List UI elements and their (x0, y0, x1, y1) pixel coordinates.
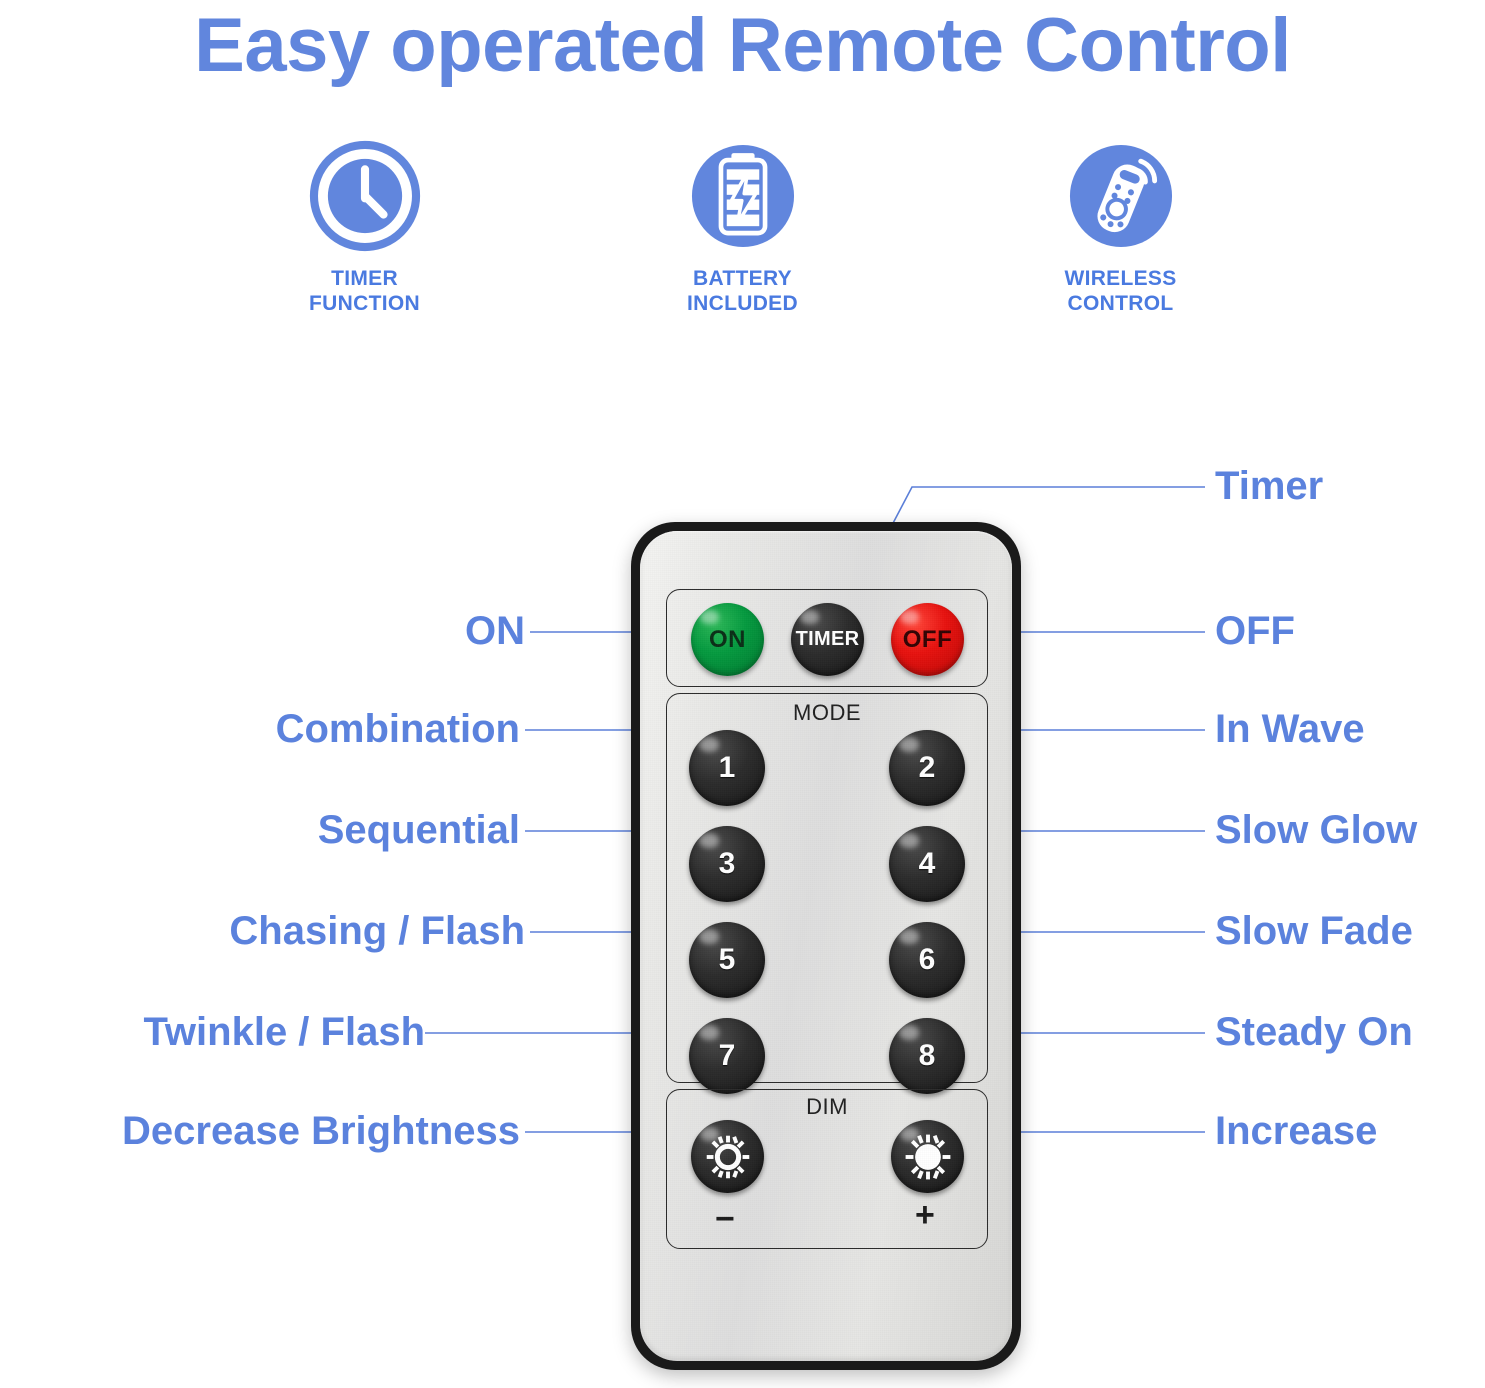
feature-badges: TIMER FUNCTION BATTERY INCLUDED (0, 138, 1485, 316)
mode-button-7[interactable]: 7 (689, 1018, 765, 1094)
callout-slow-fade: Slow Fade (1215, 908, 1413, 954)
mode-button-5[interactable]: 5 (689, 922, 765, 998)
remote-faceplate: ON TIMER OFF MODE 1 2 3 4 5 6 7 8 DIM (640, 531, 1012, 1361)
dim-button-group: DIM (666, 1089, 988, 1249)
callout-increase: Increase (1215, 1108, 1377, 1154)
power-button-group: ON TIMER OFF (666, 589, 988, 687)
dim-decrease-button[interactable] (691, 1120, 764, 1193)
callout-slow-glow: Slow Glow (1215, 807, 1417, 853)
callout-off: OFF (1215, 608, 1295, 654)
dim-group-label: DIM (667, 1094, 987, 1120)
battery-icon (685, 138, 801, 254)
sun-bright-icon (900, 1129, 956, 1185)
mode-button-1[interactable]: 1 (689, 730, 765, 806)
callout-combination: Combination (276, 706, 520, 752)
dim-minus-sign: − (715, 1202, 735, 1236)
dim-increase-button[interactable] (891, 1120, 964, 1193)
mode-button-2[interactable]: 2 (889, 730, 965, 806)
mode-button-4[interactable]: 4 (889, 826, 965, 902)
feature-label: BATTERY INCLUDED (687, 266, 798, 316)
dim-plus-sign: + (915, 1198, 935, 1232)
feature-label: WIRELESS CONTROL (1064, 266, 1176, 316)
timer-button[interactable]: TIMER (791, 603, 864, 676)
callout-twinkle-flash: Twinkle / Flash (143, 1009, 425, 1055)
feature-wireless-control: WIRELESS CONTROL (1021, 138, 1221, 316)
remote-wireless-icon (1063, 138, 1179, 254)
feature-label-line1: BATTERY (687, 266, 798, 291)
feature-label: TIMER FUNCTION (309, 266, 420, 316)
callout-in-wave: In Wave (1215, 706, 1365, 752)
feature-timer-function: TIMER FUNCTION (265, 138, 465, 316)
callout-on: ON (465, 608, 525, 654)
mode-button-3[interactable]: 3 (689, 826, 765, 902)
off-button[interactable]: OFF (891, 603, 964, 676)
callout-chasing-flash: Chasing / Flash (229, 908, 525, 954)
callout-sequential: Sequential (318, 807, 520, 853)
feature-label-line2: FUNCTION (309, 291, 420, 316)
callout-steady-on: Steady On (1215, 1009, 1413, 1055)
mode-group-label: MODE (667, 700, 987, 726)
on-button[interactable]: ON (691, 603, 764, 676)
feature-battery-included: BATTERY INCLUDED (643, 138, 843, 316)
mode-button-8[interactable]: 8 (889, 1018, 965, 1094)
mode-button-6[interactable]: 6 (889, 922, 965, 998)
callout-timer: Timer (1215, 463, 1323, 509)
feature-label-line1: WIRELESS (1064, 266, 1176, 291)
feature-label-line2: CONTROL (1064, 291, 1176, 316)
mode-button-group: MODE 1 2 3 4 5 6 7 8 (666, 693, 988, 1083)
sun-dim-icon (700, 1129, 756, 1185)
feature-label-line1: TIMER (309, 266, 420, 291)
feature-label-line2: INCLUDED (687, 291, 798, 316)
remote-control: ON TIMER OFF MODE 1 2 3 4 5 6 7 8 DIM (631, 522, 1021, 1370)
page-title: Easy operated Remote Control (0, 0, 1485, 92)
clock-icon (307, 138, 423, 254)
callout-decrease-brightness: Decrease Brightness (122, 1108, 520, 1154)
